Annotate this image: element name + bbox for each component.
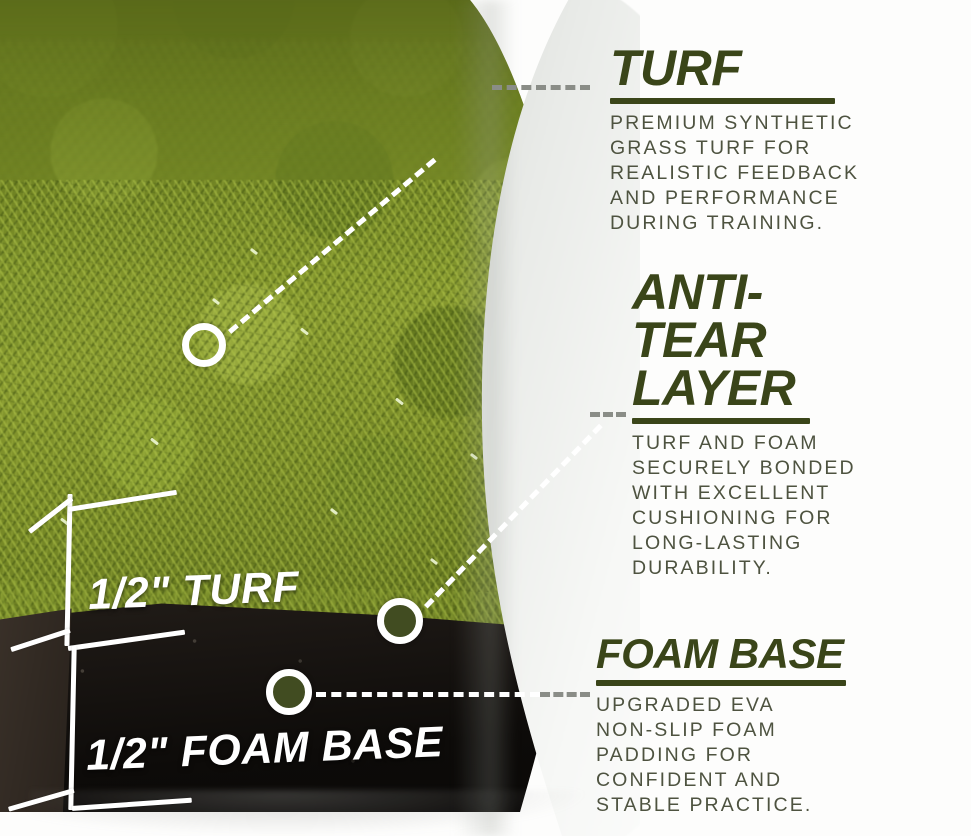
product-infographic: 1/2" TURF 1/2" FOAM BASE TURF PREMIUM SY… <box>0 0 971 836</box>
anti-tear-callout-marker[interactable] <box>377 598 423 644</box>
feature-block-anti-tear-layer: ANTI- TEAR LAYER TURF AND FOAM SECURELY … <box>632 268 856 581</box>
anti-tear-description: TURF AND FOAM SECURELY BONDED WITH EXCEL… <box>632 431 856 581</box>
turf-heading-rule <box>610 98 835 104</box>
turf-description: PREMIUM SYNTHETIC GRASS TURF FOR REALIST… <box>610 111 859 236</box>
anti-tear-leader-horizontal <box>590 412 626 417</box>
foam-base-leader-gray <box>540 692 590 697</box>
photo-drop-shadow <box>30 790 590 836</box>
turf-leader-horizontal <box>492 85 590 90</box>
anti-tear-heading: ANTI- TEAR LAYER <box>632 268 856 412</box>
foam-base-callout-marker[interactable] <box>266 669 312 715</box>
turf-callout-marker[interactable] <box>182 323 226 367</box>
foam-base-heading: FOAM BASE <box>596 634 846 674</box>
foam-base-leader-white <box>316 692 540 697</box>
product-photo <box>0 0 640 836</box>
foam-base-description: UPGRADED EVA NON-SLIP FOAM PADDING FOR C… <box>596 693 846 818</box>
foam-base-heading-rule <box>596 680 846 686</box>
feature-block-foam-base: FOAM BASE UPGRADED EVA NON-SLIP FOAM PAD… <box>596 634 846 818</box>
photo-edge-shadow <box>455 0 515 836</box>
turf-thickness-label: 1/2" TURF <box>87 563 300 620</box>
feature-block-turf: TURF PREMIUM SYNTHETIC GRASS TURF FOR RE… <box>610 44 859 236</box>
anti-tear-heading-rule <box>632 418 810 424</box>
turf-heading: TURF <box>610 44 859 92</box>
